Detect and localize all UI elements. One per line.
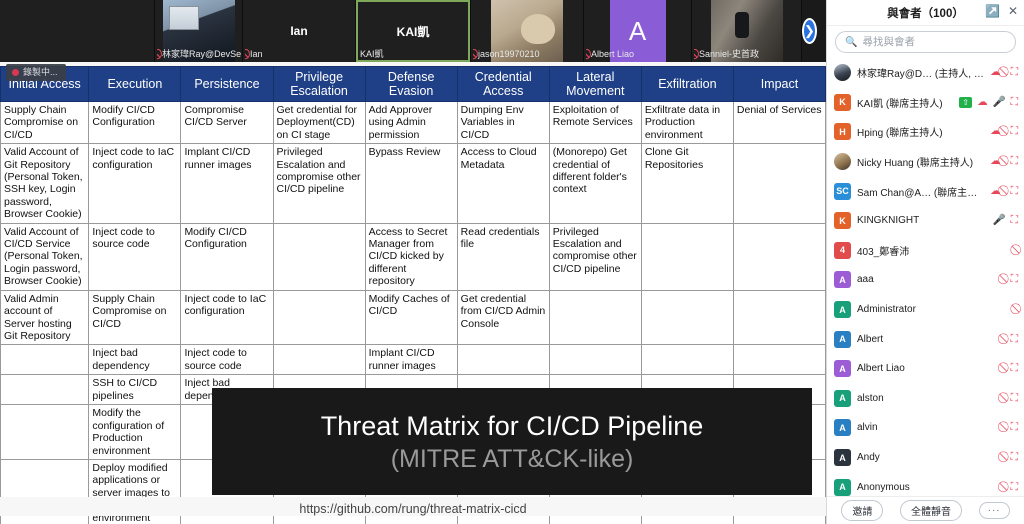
matrix-cell bbox=[733, 144, 825, 223]
matrix-cell bbox=[1, 345, 89, 375]
avatar: SC bbox=[834, 183, 851, 200]
table-row: Valid Account of Git Repository (Persona… bbox=[1, 144, 826, 223]
matrix-cell: Modify the configuration of Production e… bbox=[89, 405, 181, 460]
matrix-cell bbox=[273, 290, 365, 345]
search-input[interactable] bbox=[862, 36, 1006, 48]
participants-search: 🔍 bbox=[827, 26, 1024, 57]
matrix-cell: Clone Git Repositories bbox=[641, 144, 733, 223]
tile-nameplate: ⃠ Albert Liao bbox=[586, 49, 636, 60]
matrix-cell: (Monorepo) Get credential of different f… bbox=[549, 144, 641, 223]
participant-row[interactable]: Aalston⃠⛶ bbox=[827, 384, 1024, 414]
camera-off-icon[interactable]: ⛶ bbox=[1011, 67, 1018, 78]
participant-name: KAI凱 (聯席主持人) bbox=[857, 95, 953, 110]
avatar: K bbox=[834, 212, 851, 229]
camera-off-icon[interactable]: ⛶ bbox=[1011, 452, 1018, 463]
matrix-cell: Exploitation of Remote Services bbox=[549, 102, 641, 144]
participant-row[interactable]: Aaaa⃠⛶ bbox=[827, 265, 1024, 295]
avatar: A bbox=[834, 360, 851, 377]
participant-name: alston bbox=[857, 393, 1000, 404]
recording-badge: 錄製中... bbox=[6, 64, 66, 81]
matrix-cell bbox=[733, 290, 825, 345]
record-dot-icon bbox=[12, 69, 19, 76]
search-box[interactable]: 🔍 bbox=[835, 31, 1016, 53]
participant-name: alvin bbox=[857, 422, 1000, 433]
matrix-cell: Add Approver using Admin permission bbox=[365, 102, 457, 144]
avatar: H bbox=[834, 123, 851, 140]
matrix-cell: Valid Admin account of Server hosting Gi… bbox=[1, 290, 89, 345]
matrix-cell bbox=[1, 405, 89, 460]
slide-title-sub: (MITRE ATT&CK-like) bbox=[391, 443, 634, 475]
camera-off-icon[interactable]: ⛶ bbox=[1011, 363, 1018, 374]
participant-status-icons: ☁⃠⛶ bbox=[990, 186, 1018, 197]
participant-name: Nicky Huang (聯席主持人) bbox=[857, 154, 984, 169]
camera-off-icon[interactable]: ⛶ bbox=[1011, 186, 1018, 197]
matrix-cell: Modify CI/CD Configuration bbox=[181, 223, 273, 290]
matrix-col-header: Lateral Movement bbox=[549, 67, 641, 102]
tile-name-label: Albert Liao bbox=[591, 49, 634, 60]
avatar bbox=[834, 153, 851, 170]
matrix-cell bbox=[549, 290, 641, 345]
participant-row[interactable]: SCSam Chan@A… (聯席主持人)☁⃠⛶ bbox=[827, 176, 1024, 206]
matrix-cell: Access to Secret Manager from CI/CD kick… bbox=[365, 223, 457, 290]
camera-off-icon[interactable]: ⛶ bbox=[1011, 215, 1018, 226]
more-options-button[interactable]: ··· bbox=[979, 502, 1010, 519]
video-tile-lin[interactable]: ⃠ 林家瑋Ray@DevSecO… bbox=[155, 0, 243, 62]
avatar: 4 bbox=[834, 242, 851, 259]
participants-list[interactable]: 林家瑋Ray@D… (主持人, 我)☁⃠⛶KKAI凱 (聯席主持人)⇧☁🎤⛶HH… bbox=[827, 57, 1024, 496]
camera-off-icon[interactable]: ⛶ bbox=[1011, 126, 1018, 137]
tile-name-label: Sanniel-史首政 bbox=[699, 49, 759, 60]
participant-status-icons: ☁⃠⛶ bbox=[990, 156, 1018, 167]
matrix-col-header: Persistence bbox=[181, 67, 273, 102]
tile-nameplate: ⃠ Sanniel-史首政 bbox=[694, 49, 761, 60]
participant-name: Albert bbox=[857, 334, 1000, 345]
matrix-cell: Inject bad dependency bbox=[89, 345, 181, 375]
participants-panel-header: 與會者（100） ↗️ ✕ bbox=[827, 0, 1024, 26]
avatar: A bbox=[834, 419, 851, 436]
mute-all-button[interactable]: 全體靜音 bbox=[900, 500, 962, 521]
camera-off-icon[interactable]: ⛶ bbox=[1011, 156, 1018, 167]
matrix-cell bbox=[641, 345, 733, 375]
participant-name: 林家瑋Ray@D… (主持人, 我) bbox=[857, 65, 984, 80]
chevron-right-icon[interactable]: ❯ bbox=[802, 18, 817, 44]
participant-name: Anonymous bbox=[857, 482, 1000, 493]
camera-off-icon[interactable]: ⛶ bbox=[1011, 274, 1018, 285]
video-tile-jason[interactable]: ⃠ jason19970210 bbox=[471, 0, 584, 62]
tile-name-label: Ian bbox=[250, 49, 263, 60]
matrix-cell: Valid Account of CI/CD Service (Personal… bbox=[1, 223, 89, 290]
matrix-cell: Supply Chain Compromise on CI/CD bbox=[89, 290, 181, 345]
matrix-cell: Inject code to IaC configuration bbox=[89, 144, 181, 223]
matrix-cell bbox=[273, 345, 365, 375]
avatar: A bbox=[834, 331, 851, 348]
matrix-cell bbox=[641, 290, 733, 345]
participant-status-icons: ⃠⛶ bbox=[1006, 452, 1018, 463]
participants-title: 與會者（100） bbox=[887, 5, 964, 21]
matrix-col-header: Execution bbox=[89, 67, 181, 102]
matrix-cell bbox=[273, 223, 365, 290]
participant-row[interactable]: Aalvin⃠⛶ bbox=[827, 413, 1024, 443]
raise-hand-icon: ☁ bbox=[990, 156, 1001, 167]
matrix-col-header: Exfiltration bbox=[641, 67, 733, 102]
video-tile-ian[interactable]: Ian ⃠ Ian bbox=[243, 0, 356, 62]
matrix-cell: Privileged Escalation and compromise oth… bbox=[273, 144, 365, 223]
matrix-cell: Modify CI/CD Configuration bbox=[89, 102, 181, 144]
participant-name: Andy bbox=[857, 452, 1000, 463]
participant-row[interactable]: KKINGKNIGHT🎤⛶ bbox=[827, 206, 1024, 236]
slide-title-overlay: Threat Matrix for CI/CD Pipeline (MITRE … bbox=[212, 388, 812, 495]
matrix-cell: Implant CI/CD runner images bbox=[365, 345, 457, 375]
matrix-cell: Get credential from CI/CD Admin Console bbox=[457, 290, 549, 345]
tile-center-label: KAI凱 bbox=[397, 23, 430, 40]
matrix-cell: Get credential for Deployment(CD) on CI … bbox=[273, 102, 365, 144]
participant-row[interactable]: AAlbert Liao⃠⛶ bbox=[827, 354, 1024, 384]
matrix-col-header: Credential Access bbox=[457, 67, 549, 102]
recording-label: 錄製中... bbox=[23, 66, 58, 78]
matrix-cell: Access to Cloud Metadata bbox=[457, 144, 549, 223]
participant-row[interactable]: Nicky Huang (聯席主持人)☁⃠⛶ bbox=[827, 147, 1024, 177]
participant-row[interactable]: AAlbert⃠⛶ bbox=[827, 324, 1024, 354]
matrix-cell: Inject code to source code bbox=[89, 223, 181, 290]
tile-nameplate: KAI凱 bbox=[358, 49, 386, 60]
search-icon: 🔍 bbox=[845, 37, 857, 48]
camera-off-icon[interactable]: ⛶ bbox=[1011, 334, 1018, 345]
matrix-cell: Dumping Env Variables in CI/CD bbox=[457, 102, 549, 144]
popout-icon[interactable]: ↗️ bbox=[985, 5, 1000, 17]
participant-row[interactable]: AAndy⃠⛶ bbox=[827, 443, 1024, 473]
video-tile-sanniel[interactable]: ⃠ Sanniel-史首政 bbox=[692, 0, 802, 62]
matrix-col-header: Defense Evasion bbox=[365, 67, 457, 102]
participant-status-icons: ⃠⛶ bbox=[1006, 274, 1018, 285]
avatar: A bbox=[834, 449, 851, 466]
participant-status-icons: ⇧☁🎤⛶ bbox=[959, 97, 1018, 108]
table-row: Supply Chain Compromise on CI/CDModify C… bbox=[1, 102, 826, 144]
participant-row[interactable]: 4403_鄭睿沛⃠ bbox=[827, 236, 1024, 266]
matrix-col-header: Privilege Escalation bbox=[273, 67, 365, 102]
participant-name: Hping (聯席主持人) bbox=[857, 124, 984, 139]
participant-status-icons: 🎤⛶ bbox=[993, 215, 1018, 226]
avatar: A bbox=[834, 479, 851, 496]
video-filmstrip: ⃠ 林家瑋Ray@DevSecO… Ian ⃠ Ian KAI凱 KAI凱 bbox=[0, 0, 826, 62]
matrix-cell bbox=[549, 345, 641, 375]
participant-name: Sam Chan@A… (聯席主持人) bbox=[857, 184, 984, 199]
avatar bbox=[834, 64, 851, 81]
participant-row[interactable]: KKAI凱 (聯席主持人)⇧☁🎤⛶ bbox=[827, 88, 1024, 118]
matrix-cell: Valid Account of Git Repository (Persona… bbox=[1, 144, 89, 223]
participant-name: 403_鄭睿沛 bbox=[857, 243, 1012, 258]
matrix-cell bbox=[1, 375, 89, 405]
matrix-cell bbox=[733, 223, 825, 290]
avatar: K bbox=[834, 94, 851, 111]
matrix-cell: SSH to CI/CD pipelines bbox=[89, 375, 181, 405]
participant-name: KINGKNIGHT bbox=[857, 215, 987, 226]
matrix-cell: Inject code to source code bbox=[181, 345, 273, 375]
matrix-cell: Exfiltrate data in Production environmen… bbox=[641, 102, 733, 144]
participant-row[interactable]: AAnonymous⃠⛶ bbox=[827, 472, 1024, 496]
matrix-cell: Inject code to IaC configuration bbox=[181, 290, 273, 345]
participants-panel: 與會者（100） ↗️ ✕ 🔍 林家瑋Ray@D… (主持人, 我)☁⃠⛶KKA… bbox=[826, 0, 1024, 524]
raise-hand-icon: ☁ bbox=[977, 97, 988, 108]
tile-nameplate: ⃠ 林家瑋Ray@DevSecO… bbox=[157, 49, 241, 60]
participant-status-icons: ☁⃠⛶ bbox=[990, 126, 1018, 137]
avatar: A bbox=[834, 390, 851, 407]
matrix-cell: Read credentials file bbox=[457, 223, 549, 290]
participant-status-icons: ⃠⛶ bbox=[1006, 422, 1018, 433]
participant-name: Albert Liao bbox=[857, 363, 1000, 374]
table-row: Valid Account of CI/CD Service (Personal… bbox=[1, 223, 826, 290]
close-icon[interactable]: ✕ bbox=[1008, 5, 1018, 17]
matrix-cell: Denial of Services bbox=[733, 102, 825, 144]
participant-status-icons: ☁⃠⛶ bbox=[990, 67, 1018, 78]
screen-share-icon: ⇧ bbox=[959, 97, 972, 108]
matrix-cell bbox=[733, 345, 825, 375]
participants-footer: 邀請 全體靜音 ··· bbox=[827, 496, 1024, 524]
raise-hand-icon: ☁ bbox=[990, 67, 1001, 78]
avatar: A bbox=[834, 301, 851, 318]
participant-name: Administrator bbox=[857, 304, 1012, 315]
matrix-cell: Implant CI/CD runner images bbox=[181, 144, 273, 223]
participant-row[interactable]: HHping (聯席主持人)☁⃠⛶ bbox=[827, 117, 1024, 147]
matrix-cell: Bypass Review bbox=[365, 144, 457, 223]
slide-title-main: Threat Matrix for CI/CD Pipeline bbox=[321, 409, 704, 443]
video-tile-kai[interactable]: KAI凱 KAI凱 bbox=[356, 0, 471, 62]
avatar: A bbox=[834, 271, 851, 288]
matrix-cell: Privileged Escalation and compromise oth… bbox=[549, 223, 641, 290]
tile-name-label: KAI凱 bbox=[360, 49, 384, 60]
participant-status-icons: ⃠⛶ bbox=[1006, 482, 1018, 493]
tile-name-label: 林家瑋Ray@DevSecO… bbox=[162, 49, 241, 60]
camera-off-icon[interactable]: ⛶ bbox=[1011, 482, 1018, 493]
table-row: Valid Admin account of Server hosting Gi… bbox=[1, 290, 826, 345]
matrix-cell: Compromise CI/CD Server bbox=[181, 102, 273, 144]
participant-name: aaa bbox=[857, 274, 1000, 285]
tile-nameplate: ⃠ jason19970210 bbox=[473, 49, 542, 60]
matrix-col-header: Impact bbox=[733, 67, 825, 102]
matrix-cell: Supply Chain Compromise on CI/CD bbox=[1, 102, 89, 144]
matrix-header-row: Initial AccessExecutionPersistencePrivil… bbox=[1, 67, 826, 102]
participant-row[interactable]: AAdministrator⃠ bbox=[827, 295, 1024, 325]
mic-icon[interactable]: 🎤 bbox=[993, 215, 1006, 226]
tile-name-label: jason19970210 bbox=[478, 49, 540, 60]
shared-screen-stage: ⃠ 林家瑋Ray@DevSecO… Ian ⃠ Ian KAI凱 KAI凱 bbox=[0, 0, 826, 524]
video-tile[interactable] bbox=[0, 0, 155, 62]
camera-off-icon[interactable]: ⛶ bbox=[1011, 393, 1018, 404]
camera-off-icon[interactable]: ⛶ bbox=[1011, 422, 1018, 433]
tile-center-label: Ian bbox=[290, 24, 307, 38]
participant-row[interactable]: 林家瑋Ray@D… (主持人, 我)☁⃠⛶ bbox=[827, 58, 1024, 88]
mic-icon[interactable]: 🎤 bbox=[993, 97, 1006, 108]
tile-nameplate: ⃠ Ian bbox=[245, 49, 265, 60]
matrix-cell bbox=[457, 345, 549, 375]
raise-hand-icon: ☁ bbox=[990, 126, 1001, 137]
raise-hand-icon: ☁ bbox=[990, 186, 1001, 197]
invite-button[interactable]: 邀請 bbox=[841, 500, 883, 521]
source-url: https://github.com/rung/threat-matrix-ci… bbox=[0, 497, 826, 516]
participant-status-icons: ⃠⛶ bbox=[1006, 393, 1018, 404]
table-row: Inject bad dependencyInject code to sour… bbox=[1, 345, 826, 375]
camera-off-icon[interactable]: ⛶ bbox=[1011, 97, 1018, 108]
zoom-meeting-window: ⃠ 林家瑋Ray@DevSecO… Ian ⃠ Ian KAI凱 KAI凱 bbox=[0, 0, 1024, 524]
video-tile-albert[interactable]: A ⃠ Albert Liao bbox=[584, 0, 692, 62]
participant-status-icons: ⃠⛶ bbox=[1006, 363, 1018, 374]
matrix-cell bbox=[641, 223, 733, 290]
matrix-cell: Modify Caches of CI/CD bbox=[365, 290, 457, 345]
participant-status-icons: ⃠⛶ bbox=[1006, 334, 1018, 345]
